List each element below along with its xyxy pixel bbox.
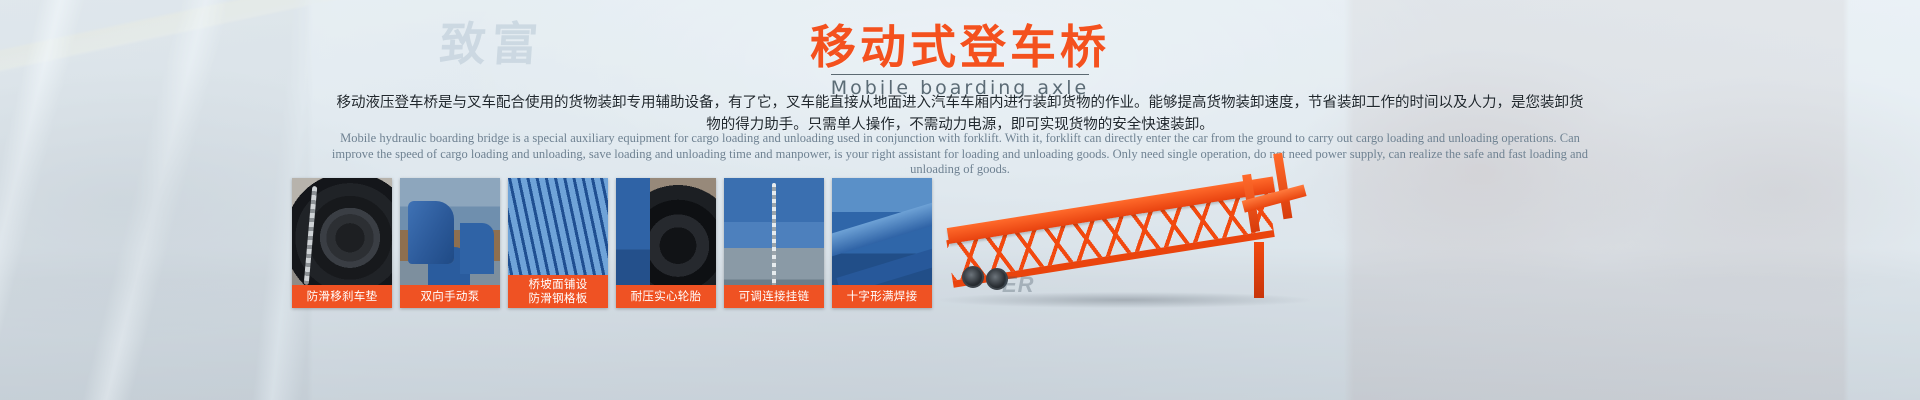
product-banner: 致富 移动式登车桥 Mobile boarding axle 移动液压登车桥是与… — [0, 0, 1920, 400]
feature-caption: 桥坡面铺设防滑钢格板 — [508, 275, 608, 308]
ramp-support-leg — [1254, 242, 1264, 298]
page-title: 移动式登车桥 — [0, 22, 1920, 72]
feature-thumb-anti-skid-steel-grid[interactable]: 桥坡面铺设防滑钢格板 — [508, 178, 608, 308]
description-english: Mobile hydraulic boarding bridge is a sp… — [330, 131, 1590, 178]
feature-caption: 可调连接挂链 — [724, 285, 824, 308]
feature-thumb-cross-full-weld[interactable]: 十字形满焊接 — [832, 178, 932, 308]
feature-thumb-bidirectional-pump[interactable]: 双向手动泵 — [400, 178, 500, 308]
feature-thumb-adjustable-chain[interactable]: 可调连接挂链 — [724, 178, 824, 308]
feature-caption: 十字形满焊接 — [832, 285, 932, 308]
headline-block: 移动式登车桥 Mobile boarding axle — [0, 22, 1920, 99]
feature-caption: 防滑移刹车垫 — [292, 285, 392, 308]
feature-caption: 耐压实心轮胎 — [616, 285, 716, 308]
description-chinese: 移动液压登车桥是与叉车配合使用的货物装卸专用辅助设备，有了它，叉车能直接从地面进… — [330, 92, 1590, 136]
feature-caption: 双向手动泵 — [400, 285, 500, 308]
feature-thumbnail-strip: 防滑移刹车垫 双向手动泵 桥坡面铺设防滑钢格板 耐压实心轮胎 可调连接挂链 十字… — [292, 178, 932, 308]
feature-thumb-anti-skid-brake-pad[interactable]: 防滑移刹车垫 — [292, 178, 392, 308]
ramp-wheel — [962, 266, 984, 288]
background-brand-text: ER — [1002, 272, 1035, 298]
feature-thumb-solid-tire[interactable]: 耐压实心轮胎 — [616, 178, 716, 308]
product-hero-image: ER — [930, 188, 1350, 328]
